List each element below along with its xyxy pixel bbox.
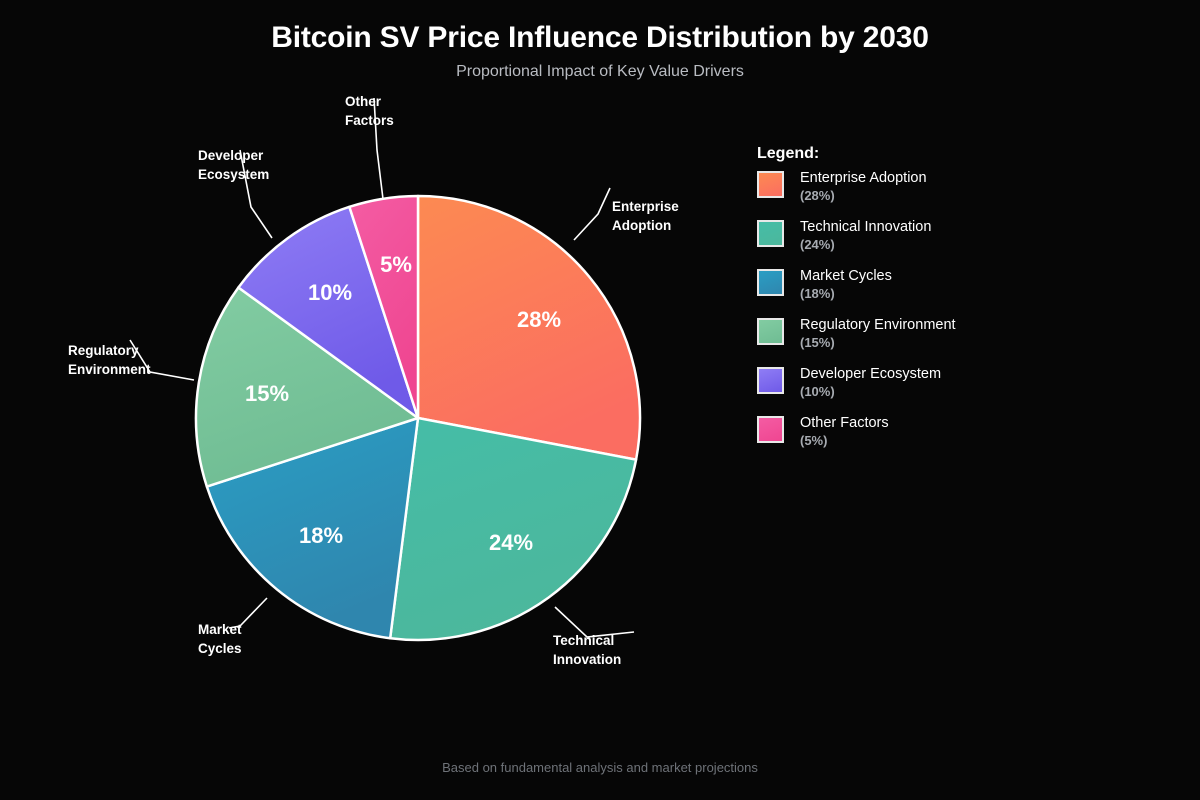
legend-item-label: Enterprise Adoption bbox=[800, 170, 927, 188]
legend-color-swatch bbox=[757, 318, 784, 345]
legend-item-label: Developer Ecosystem bbox=[800, 366, 941, 384]
slice-outer-label: TechnicalInnovation bbox=[553, 633, 621, 667]
legend-item[interactable]: Enterprise Adoption(28%) bbox=[757, 170, 1057, 208]
legend-items: Enterprise Adoption(28%)Technical Innova… bbox=[757, 170, 1057, 453]
legend-item-percent: (24%) bbox=[800, 237, 931, 253]
legend-item[interactable]: Developer Ecosystem(10%) bbox=[757, 366, 1057, 404]
slice-value-label: 15% bbox=[245, 381, 289, 406]
legend-title: Legend: bbox=[757, 145, 1057, 163]
leader-line bbox=[574, 188, 610, 240]
legend-item-percent: (5%) bbox=[800, 433, 889, 449]
slice-value-label: 10% bbox=[308, 280, 352, 305]
leader-line bbox=[240, 150, 272, 238]
legend-item-label: Market Cycles bbox=[800, 268, 892, 286]
legend-color-swatch bbox=[757, 367, 784, 394]
slice-outer-label: RegulatoryEnvironment bbox=[68, 343, 151, 377]
legend-item[interactable]: Market Cycles(18%) bbox=[757, 268, 1057, 306]
slice-value-label: 5% bbox=[380, 252, 412, 277]
slice-value-label: 24% bbox=[489, 530, 533, 555]
slice-outer-label: OtherFactors bbox=[345, 94, 394, 128]
slice-outer-label: DeveloperEcosystem bbox=[198, 148, 269, 182]
legend-color-swatch bbox=[757, 171, 784, 198]
chart-canvas: Bitcoin SV Price Influence Distribution … bbox=[0, 0, 1200, 800]
legend-item-percent: (18%) bbox=[800, 286, 892, 302]
legend: Legend: Enterprise Adoption(28%)Technica… bbox=[757, 145, 1057, 464]
legend-item-percent: (15%) bbox=[800, 335, 956, 351]
legend-item-label: Regulatory Environment bbox=[800, 317, 956, 335]
legend-item-label: Technical Innovation bbox=[800, 219, 931, 237]
legend-item-percent: (10%) bbox=[800, 384, 941, 400]
legend-color-swatch bbox=[757, 220, 784, 247]
slice-value-label: 28% bbox=[517, 307, 561, 332]
slice-value-label: 18% bbox=[299, 523, 343, 548]
legend-item[interactable]: Technical Innovation(24%) bbox=[757, 219, 1057, 257]
legend-color-swatch bbox=[757, 416, 784, 443]
slice-outer-label: EnterpriseAdoption bbox=[612, 199, 679, 233]
legend-color-swatch bbox=[757, 269, 784, 296]
slice-outer-label: MarketCycles bbox=[198, 622, 242, 656]
legend-item-percent: (28%) bbox=[800, 188, 927, 204]
legend-item[interactable]: Other Factors(5%) bbox=[757, 415, 1057, 453]
chart-footer-note: Based on fundamental analysis and market… bbox=[0, 760, 1200, 775]
pie-slice-group bbox=[196, 196, 640, 640]
legend-item[interactable]: Regulatory Environment(15%) bbox=[757, 317, 1057, 355]
legend-item-label: Other Factors bbox=[800, 415, 889, 433]
